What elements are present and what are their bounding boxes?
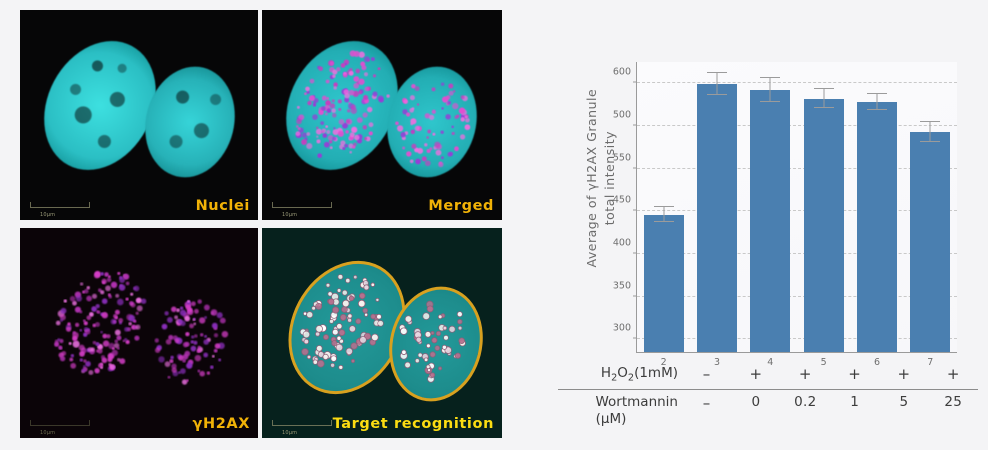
granule-focus bbox=[351, 105, 356, 110]
error-bar-cap-upper bbox=[707, 72, 727, 73]
granule-focus bbox=[333, 127, 335, 129]
granule-focus bbox=[130, 302, 135, 307]
granule-focus bbox=[465, 118, 470, 123]
granule-focus bbox=[346, 348, 353, 355]
granule-focus bbox=[302, 132, 307, 137]
granule-focus bbox=[465, 115, 468, 118]
error-bar-cap-lower bbox=[760, 101, 780, 102]
granule-focus bbox=[193, 341, 197, 345]
plot-area: 600500550450400350300 234567 bbox=[636, 62, 957, 353]
y-axis-tick-label: 350 bbox=[613, 280, 631, 291]
granule-focus bbox=[351, 359, 354, 362]
granule-focus bbox=[97, 311, 100, 314]
granule-focus bbox=[410, 95, 415, 100]
scale-bar-label: 10µm bbox=[40, 430, 55, 436]
granule-focus bbox=[191, 301, 196, 306]
granule-focus bbox=[397, 125, 403, 131]
condition-table: H2O2(1mM) –+++++ Wortmannin (µM) –00.215… bbox=[558, 362, 978, 431]
y-axis-tick-label: 550 bbox=[613, 152, 631, 163]
granule-focus bbox=[349, 71, 354, 76]
bar-slot: 7 bbox=[910, 62, 950, 352]
error-bar-cap-upper bbox=[760, 77, 780, 78]
granule-focus bbox=[119, 276, 122, 279]
granule-focus bbox=[436, 331, 440, 335]
error-bar bbox=[770, 78, 771, 102]
granule-focus bbox=[340, 314, 346, 320]
granule-focus bbox=[80, 358, 83, 361]
granule-focus bbox=[371, 314, 376, 319]
scale-bar bbox=[30, 420, 90, 426]
granule-focus bbox=[197, 299, 201, 303]
granule-focus bbox=[331, 363, 335, 367]
granule-focus bbox=[332, 329, 338, 335]
granule-focus bbox=[124, 327, 129, 332]
granule-focus bbox=[115, 310, 120, 315]
granule-focus bbox=[364, 313, 367, 316]
granule-focus bbox=[323, 133, 328, 138]
granule-focus bbox=[411, 84, 416, 89]
granule-focus bbox=[105, 285, 111, 291]
granule-focus bbox=[306, 143, 312, 149]
foci-overlay-merged bbox=[262, 10, 502, 220]
condition-cell: + bbox=[933, 365, 973, 383]
granule-focus bbox=[425, 160, 431, 166]
granule-focus bbox=[438, 367, 441, 370]
granule-focus bbox=[434, 142, 440, 148]
granule-focus bbox=[183, 342, 188, 347]
granule-focus bbox=[342, 290, 347, 295]
granule-focus bbox=[130, 293, 133, 296]
granule-focus bbox=[364, 285, 369, 290]
error-bar bbox=[930, 122, 931, 142]
granule-focus bbox=[296, 119, 302, 125]
granule-focus bbox=[61, 308, 67, 314]
granule-focus bbox=[316, 303, 322, 309]
scale-bar-label: 10µm bbox=[282, 212, 297, 218]
granule-focus bbox=[402, 350, 407, 355]
granule-focus bbox=[84, 289, 89, 294]
granule-focus bbox=[184, 316, 190, 322]
condition-values-wortmannin: –00.21525 bbox=[682, 394, 978, 412]
granule-focus bbox=[363, 95, 368, 100]
granule-focus bbox=[86, 296, 92, 302]
granule-focus bbox=[426, 344, 430, 348]
granule-focus bbox=[75, 323, 79, 327]
granule-focus bbox=[301, 139, 307, 145]
panel-label-nuclei: Nuclei bbox=[196, 198, 250, 214]
granule-focus bbox=[415, 359, 419, 363]
error-bar-cap-lower bbox=[867, 109, 887, 110]
granule-focus bbox=[218, 358, 221, 361]
granule-focus bbox=[71, 354, 74, 357]
condition-cell: 0 bbox=[736, 394, 776, 410]
granule-focus bbox=[321, 130, 324, 133]
granule-focus bbox=[369, 122, 374, 127]
bar[interactable] bbox=[804, 99, 844, 352]
granule-focus bbox=[193, 318, 196, 321]
granule-focus bbox=[100, 331, 103, 334]
granule-focus bbox=[418, 353, 422, 357]
granule-focus bbox=[101, 279, 107, 285]
condition-row-label-wortmannin: Wortmannin (µM) bbox=[558, 394, 682, 428]
granule-focus bbox=[115, 330, 121, 336]
granule-focus bbox=[80, 282, 83, 285]
granule-focus bbox=[332, 137, 336, 141]
granule-focus bbox=[338, 108, 341, 111]
granule-focus bbox=[204, 335, 207, 338]
granule-focus bbox=[435, 346, 440, 351]
granule-focus bbox=[313, 360, 318, 365]
granule-focus bbox=[70, 363, 76, 369]
granule-focus bbox=[82, 368, 87, 373]
error-bar-cap-lower bbox=[814, 107, 834, 108]
granule-focus bbox=[313, 101, 316, 104]
granule-focus bbox=[327, 108, 332, 113]
granule-focus bbox=[429, 147, 432, 150]
granule-focus bbox=[372, 92, 377, 97]
granule-focus bbox=[79, 351, 85, 357]
granule-focus bbox=[316, 326, 323, 333]
granule-focus bbox=[197, 349, 201, 353]
granule-focus bbox=[445, 114, 451, 120]
error-bar bbox=[663, 207, 664, 222]
granule-focus bbox=[424, 143, 427, 146]
granule-focus bbox=[115, 294, 119, 298]
granule-focus bbox=[364, 72, 368, 76]
granule-focus bbox=[83, 359, 86, 362]
granule-focus bbox=[158, 356, 164, 362]
granule-focus bbox=[306, 91, 309, 94]
granule-focus bbox=[134, 286, 140, 292]
granule-focus bbox=[214, 333, 218, 337]
error-bar-cap-upper bbox=[920, 121, 940, 122]
granule-focus bbox=[372, 334, 379, 341]
bar[interactable] bbox=[910, 132, 950, 352]
error-bar bbox=[823, 89, 824, 108]
granule-focus bbox=[376, 298, 379, 301]
granule-focus bbox=[191, 346, 197, 352]
granule-focus bbox=[111, 282, 117, 288]
scale-bar-label: 10µm bbox=[282, 430, 297, 436]
granule-focus bbox=[359, 91, 362, 94]
granule-focus bbox=[344, 93, 350, 99]
granule-focus bbox=[400, 328, 407, 335]
granule-focus bbox=[198, 370, 201, 373]
granule-focus bbox=[193, 323, 196, 326]
granule-focus bbox=[75, 307, 81, 313]
granule-focus bbox=[358, 79, 364, 85]
granule-focus bbox=[199, 371, 205, 377]
scale-bar-label: 10µm bbox=[40, 212, 55, 218]
granule-focus bbox=[443, 326, 447, 330]
granule-focus bbox=[395, 121, 399, 125]
granule-focus bbox=[116, 335, 121, 340]
granule-focus bbox=[436, 150, 442, 156]
granule-focus bbox=[95, 322, 100, 327]
granule-focus bbox=[458, 326, 462, 330]
granule-focus bbox=[326, 130, 330, 134]
granule-focus bbox=[378, 321, 384, 327]
granule-focus bbox=[454, 146, 459, 151]
granule-focus bbox=[104, 272, 109, 277]
granule-focus bbox=[342, 300, 349, 307]
error-bar bbox=[876, 94, 877, 109]
bar[interactable] bbox=[697, 84, 737, 352]
granule-focus bbox=[307, 312, 313, 318]
bar-slot: 2 bbox=[644, 62, 684, 352]
granule-focus bbox=[325, 100, 331, 106]
granule-focus bbox=[176, 308, 180, 312]
granule-focus bbox=[363, 112, 368, 117]
granule-focus bbox=[93, 341, 96, 344]
granule-focus bbox=[309, 95, 315, 101]
granule-focus bbox=[430, 373, 435, 378]
y-axis-tick-label: 300 bbox=[613, 323, 631, 334]
granule-focus bbox=[426, 365, 430, 369]
granule-focus bbox=[386, 94, 389, 97]
granule-focus bbox=[344, 144, 348, 148]
granule-focus bbox=[325, 112, 328, 115]
granule-focus bbox=[178, 355, 184, 361]
condition-label-unit: (µM) bbox=[558, 411, 678, 428]
granule-focus bbox=[57, 338, 60, 341]
granule-focus bbox=[307, 355, 311, 359]
granule-focus bbox=[364, 137, 367, 140]
granule-focus bbox=[112, 350, 118, 356]
condition-cell: 25 bbox=[933, 394, 973, 410]
granule-focus bbox=[111, 319, 117, 325]
error-bar-cap-upper bbox=[654, 206, 674, 207]
granule-focus bbox=[426, 136, 429, 139]
granule-focus bbox=[94, 368, 99, 373]
granule-focus bbox=[76, 295, 82, 301]
granule-focus bbox=[106, 334, 110, 338]
granule-focus bbox=[373, 74, 376, 77]
y-axis-tick-label: 450 bbox=[613, 195, 631, 206]
granule-focus bbox=[458, 319, 463, 324]
granule-focus bbox=[349, 326, 355, 332]
granule-focus bbox=[425, 332, 431, 338]
granule-focus bbox=[452, 132, 455, 135]
granule-focus bbox=[339, 330, 345, 336]
error-bar-cap-lower bbox=[654, 221, 674, 222]
granule-focus bbox=[402, 146, 405, 149]
granule-focus bbox=[102, 357, 108, 363]
granule-focus bbox=[134, 336, 139, 341]
granule-focus bbox=[442, 345, 446, 349]
granule-focus bbox=[305, 87, 310, 92]
granule-focus bbox=[349, 296, 354, 301]
granule-focus bbox=[103, 340, 109, 346]
granule-focus bbox=[432, 133, 435, 136]
foci-overlay-gh2ax bbox=[20, 228, 258, 438]
granule-focus bbox=[338, 131, 344, 137]
granule-focus bbox=[79, 329, 82, 332]
granule-focus bbox=[356, 319, 361, 324]
granule-focus bbox=[296, 125, 299, 128]
granule-focus bbox=[359, 293, 365, 299]
granule-focus bbox=[363, 125, 367, 129]
granule-focus bbox=[118, 318, 123, 323]
granule-focus bbox=[214, 349, 218, 353]
granule-focus bbox=[212, 323, 218, 329]
granule-focus bbox=[439, 162, 442, 165]
bar[interactable] bbox=[750, 90, 790, 352]
granule-focus bbox=[211, 309, 218, 316]
granule-focus bbox=[346, 278, 350, 282]
granule-focus bbox=[117, 299, 124, 306]
granule-focus bbox=[332, 99, 335, 102]
granule-focus bbox=[204, 305, 210, 311]
granule-focus bbox=[204, 316, 207, 319]
granule-focus bbox=[73, 341, 80, 348]
granule-focus bbox=[405, 362, 411, 368]
granule-focus bbox=[123, 274, 129, 280]
granule-focus bbox=[337, 289, 341, 293]
granule-focus bbox=[92, 294, 97, 299]
granule-focus bbox=[456, 115, 459, 118]
granule-focus bbox=[460, 117, 464, 121]
granule-focus bbox=[337, 324, 343, 330]
error-bar-cap-upper bbox=[814, 88, 834, 89]
granule-focus bbox=[210, 365, 214, 369]
granule-focus bbox=[429, 115, 434, 120]
granule-focus bbox=[187, 309, 193, 315]
granule-focus bbox=[444, 335, 449, 340]
granule-focus bbox=[423, 313, 430, 320]
granule-focus bbox=[452, 103, 458, 109]
granule-focus bbox=[405, 316, 412, 323]
granule-focus bbox=[72, 336, 77, 341]
granule-focus bbox=[406, 112, 410, 116]
granule-focus bbox=[69, 358, 73, 362]
granule-focus bbox=[406, 151, 411, 156]
granule-focus bbox=[400, 132, 405, 137]
granule-focus bbox=[351, 343, 357, 349]
granule-focus bbox=[117, 358, 120, 361]
granule-focus bbox=[187, 300, 190, 303]
granule-focus bbox=[136, 298, 142, 304]
granule-focus bbox=[137, 305, 143, 311]
granule-focus bbox=[73, 331, 76, 334]
granule-focus bbox=[324, 142, 330, 148]
granule-focus bbox=[371, 283, 375, 287]
granule-focus bbox=[67, 322, 70, 325]
granule-focus bbox=[133, 320, 136, 323]
granule-focus bbox=[189, 323, 194, 328]
granule-focus bbox=[333, 86, 337, 90]
granule-focus bbox=[329, 319, 333, 323]
granule-focus bbox=[58, 346, 62, 350]
granule-focus bbox=[96, 343, 99, 346]
granule-focus bbox=[169, 359, 173, 363]
granule-focus bbox=[172, 367, 177, 372]
granule-focus bbox=[410, 123, 413, 126]
error-bar bbox=[716, 73, 717, 95]
granule-focus bbox=[338, 274, 343, 279]
granule-focus bbox=[124, 338, 127, 341]
micrograph-panel-merged: 10µm Merged bbox=[262, 10, 502, 220]
granule-focus bbox=[165, 361, 171, 367]
granule-focus bbox=[460, 134, 465, 139]
granule-focus bbox=[180, 368, 186, 374]
condition-row-wortmannin: Wortmannin (µM) –00.21525 bbox=[558, 390, 978, 431]
condition-cell: 1 bbox=[835, 394, 875, 410]
granule-focus bbox=[100, 366, 103, 369]
granule-focus bbox=[441, 82, 444, 85]
granule-focus bbox=[350, 132, 355, 137]
bar[interactable] bbox=[644, 215, 684, 352]
granule-focus bbox=[100, 290, 104, 294]
granule-focus bbox=[358, 300, 365, 307]
granule-focus bbox=[451, 126, 454, 129]
granule-focus bbox=[194, 309, 199, 314]
granule-focus bbox=[346, 119, 350, 123]
granule-focus bbox=[186, 362, 192, 368]
granule-focus bbox=[369, 131, 373, 135]
granule-focus bbox=[353, 76, 359, 82]
granule-focus bbox=[155, 338, 159, 342]
granule-focus bbox=[215, 343, 221, 349]
bars-group: 234567 bbox=[637, 62, 957, 352]
granule-focus bbox=[97, 348, 102, 353]
granule-focus bbox=[404, 99, 409, 104]
granule-focus bbox=[316, 139, 320, 143]
granule-focus bbox=[447, 101, 451, 105]
granule-focus bbox=[60, 319, 63, 322]
granule-focus bbox=[191, 335, 194, 338]
granule-focus bbox=[332, 70, 337, 75]
granule-focus bbox=[312, 114, 318, 120]
granule-focus bbox=[128, 322, 132, 326]
scale-bar bbox=[30, 202, 90, 208]
bar[interactable] bbox=[857, 102, 897, 352]
granule-focus bbox=[84, 321, 88, 325]
granule-focus bbox=[328, 299, 334, 305]
condition-cell: + bbox=[785, 365, 825, 383]
granule-focus bbox=[85, 329, 90, 334]
granule-focus bbox=[297, 106, 300, 109]
granule-focus bbox=[316, 129, 322, 135]
granule-focus bbox=[87, 286, 90, 289]
condition-label-text: Wortmannin bbox=[595, 394, 678, 410]
granule-focus bbox=[457, 312, 462, 317]
granule-focus bbox=[56, 321, 61, 326]
granule-focus bbox=[316, 127, 318, 129]
granule-focus bbox=[348, 318, 352, 322]
granule-focus bbox=[136, 312, 139, 315]
granule-focus bbox=[354, 51, 360, 57]
granule-focus bbox=[70, 296, 76, 302]
error-bar-cap-upper bbox=[867, 93, 887, 94]
granule-focus bbox=[94, 273, 100, 279]
granule-focus bbox=[352, 145, 355, 148]
condition-cell: + bbox=[884, 365, 924, 383]
scale-bar bbox=[272, 420, 332, 426]
condition-row-label-h2o2: H2O2(1mM) bbox=[558, 365, 682, 385]
y-axis-title-line1: Average of γH2AX Granule bbox=[583, 33, 601, 323]
granule-focus bbox=[330, 146, 333, 149]
granule-focus bbox=[441, 107, 443, 109]
granule-focus bbox=[117, 272, 120, 275]
granule-focus bbox=[91, 306, 97, 312]
granule-focus bbox=[341, 307, 347, 313]
granule-focus bbox=[323, 334, 328, 339]
granule-focus bbox=[316, 345, 322, 351]
granule-focus bbox=[60, 356, 65, 361]
granule-focus bbox=[440, 130, 443, 133]
granule-focus bbox=[345, 130, 349, 134]
